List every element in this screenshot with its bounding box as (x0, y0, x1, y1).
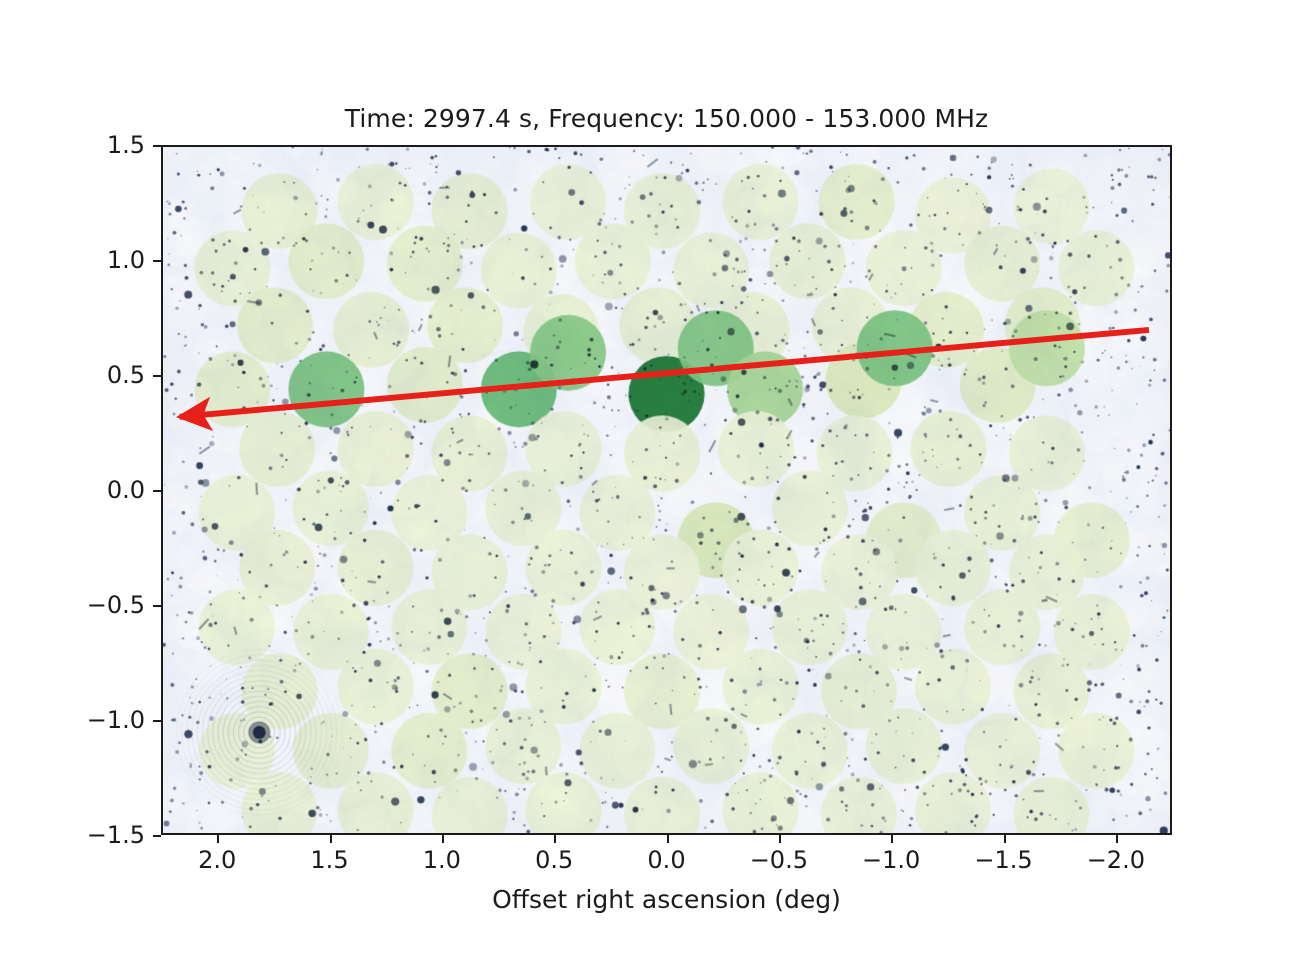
y-tick (153, 260, 161, 262)
y-tick (153, 835, 161, 837)
y-tick-label: −0.5 (87, 591, 145, 619)
y-tick (153, 375, 161, 377)
y-tick (153, 605, 161, 607)
y-tick-label: 1.0 (107, 246, 145, 274)
y-tick-label: 0.0 (107, 476, 145, 504)
x-tick (217, 835, 219, 843)
x-tick (554, 835, 556, 843)
y-tick-label: 0.5 (107, 361, 145, 389)
x-tick-label: 1.0 (423, 846, 461, 874)
x-tick-label: 2.0 (198, 846, 236, 874)
y-tick (153, 720, 161, 722)
annotation-overlay (163, 147, 1170, 833)
x-tick (891, 835, 893, 843)
figure: Time: 2997.4 s, Frequency: 150.000 - 153… (0, 0, 1300, 975)
y-tick (153, 145, 161, 147)
x-tick (1004, 835, 1006, 843)
x-tick (667, 835, 669, 843)
x-tick (330, 835, 332, 843)
y-tick-label: −1.5 (87, 821, 145, 849)
x-tick-label: −1.5 (974, 846, 1032, 874)
x-axis-label: Offset right ascension (deg) (161, 885, 1172, 914)
x-tick-label: 0.0 (647, 846, 685, 874)
y-tick (153, 490, 161, 492)
x-tick-label: 0.5 (535, 846, 573, 874)
source-track-arrow (180, 330, 1149, 417)
x-tick-label: −1.0 (862, 846, 920, 874)
chart-title: Time: 2997.4 s, Frequency: 150.000 - 153… (161, 104, 1172, 133)
y-tick-label: −1.0 (87, 706, 145, 734)
plot-area (161, 145, 1172, 835)
x-tick-label: −0.5 (750, 846, 808, 874)
x-tick-label: −2.0 (1087, 846, 1145, 874)
x-tick-label: 1.5 (310, 846, 348, 874)
y-tick-label: 1.5 (107, 131, 145, 159)
x-tick (1116, 835, 1118, 843)
x-tick (779, 835, 781, 843)
x-tick (442, 835, 444, 843)
